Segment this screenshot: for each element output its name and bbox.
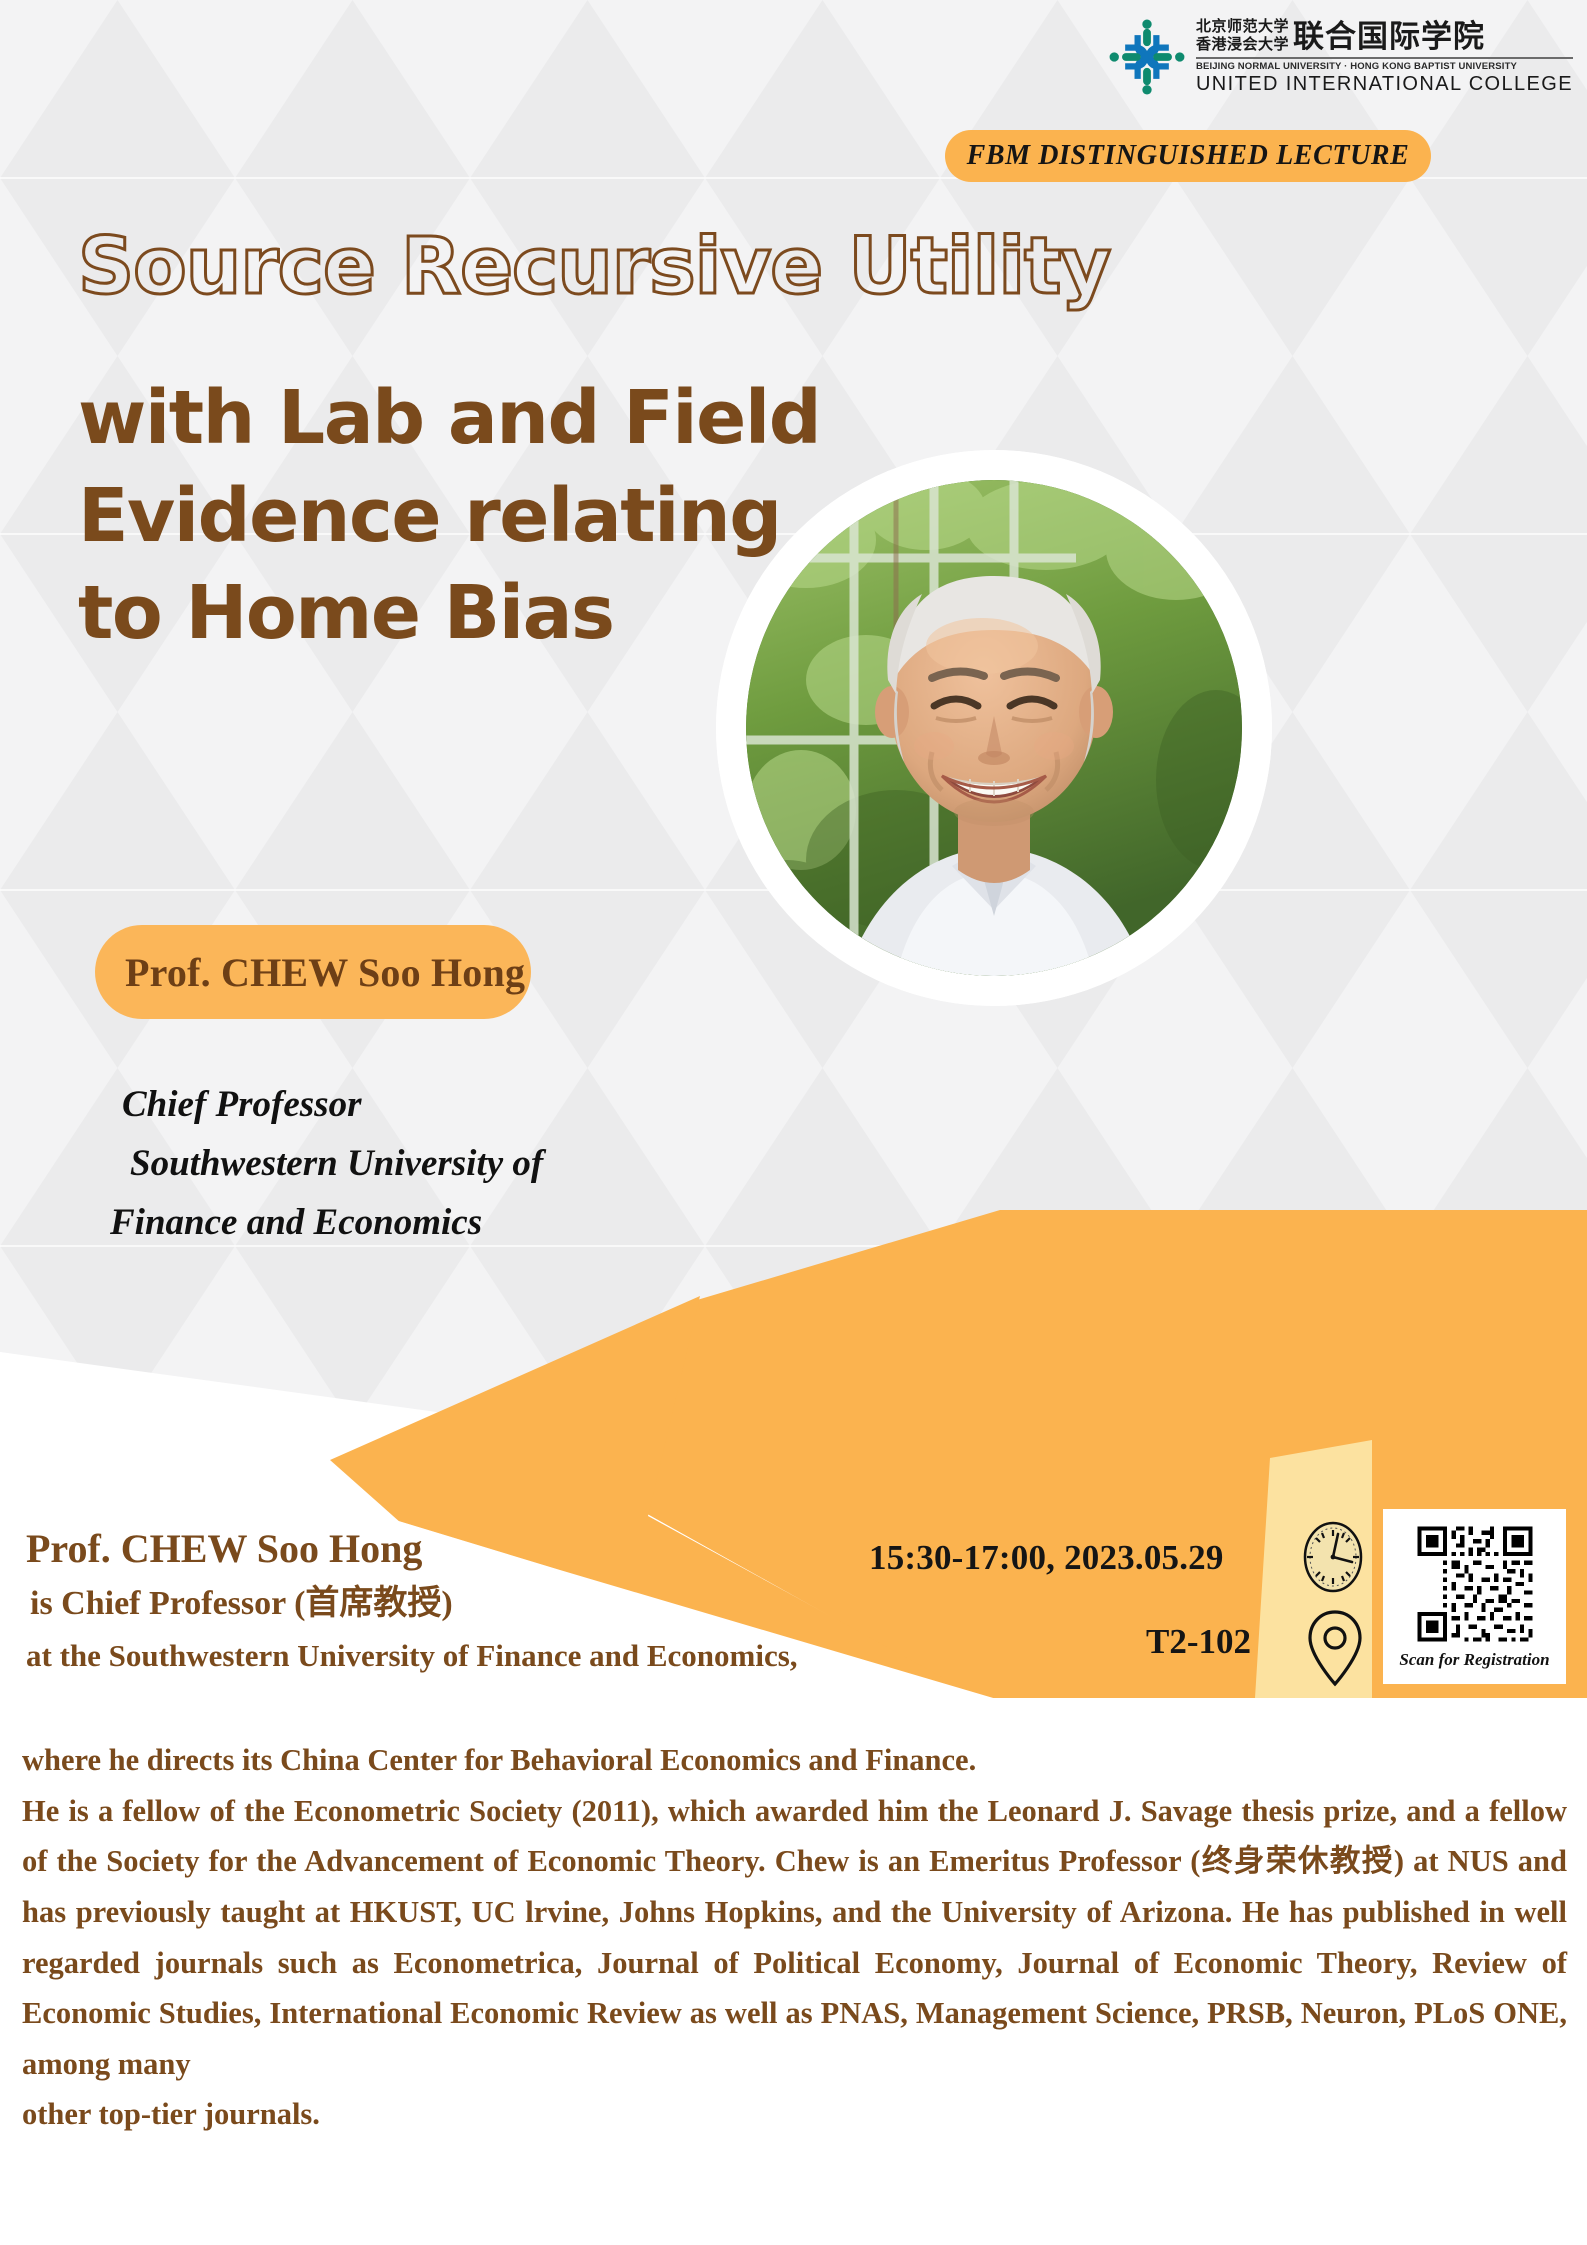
logo-divider — [1196, 57, 1573, 59]
bio-heading: Prof. CHEW Soo Hong is Chief Professor (… — [26, 1528, 798, 1672]
logo-cn-line2: 香港浸会大学 — [1196, 36, 1289, 54]
logo-cn-line1: 北京师范大学 — [1196, 18, 1289, 36]
qr-caption: Scan for Registration — [1399, 1650, 1549, 1670]
logo-cn-main: 联合国际学院 — [1293, 22, 1485, 53]
qr-code-icon[interactable] — [1407, 1522, 1543, 1646]
affiliation-line-1: Chief Professor — [110, 1075, 543, 1134]
speaker-name-pill: Prof. CHEW Soo Hong — [95, 925, 531, 1019]
bio-head-line-3: at the Southwestern University of Financ… — [26, 1640, 798, 1673]
lecture-series-badge: FBM DISTINGUISHED LECTURE — [945, 130, 1431, 182]
location-pin-icon — [1306, 1608, 1364, 1688]
title-line-1: with Lab and Field — [78, 370, 820, 468]
title-line-3: to Home Bias — [78, 565, 820, 663]
bio-paragraph-line-1: where he directs its China Center for Be… — [22, 1735, 1567, 1786]
lecture-room: T2-102 — [1146, 1622, 1251, 1662]
lecture-time: 15:30-17:00, 2023.05.29 — [869, 1538, 1224, 1578]
bio-paragraph-text: He is a fellow of the Econometric Societ… — [22, 1794, 1567, 2081]
title-line-2: Evidence relating — [78, 468, 820, 566]
affiliation-line-3: Finance and Economics — [110, 1193, 543, 1252]
logo-en-subtitle: BEIJING NORMAL UNIVERSITY · HONG KONG BA… — [1196, 61, 1573, 72]
bio-head-line-1: Prof. CHEW Soo Hong — [26, 1528, 798, 1570]
portrait-ring — [716, 450, 1272, 1006]
badge-label: FBM DISTINGUISHED LECTURE — [967, 140, 1410, 172]
speaker-affiliation: Chief Professor Southwestern University … — [110, 1075, 543, 1253]
bio-paragraph: where he directs its China Center for Be… — [22, 1735, 1567, 2140]
logo-en-title: UNITED INTERNATIONAL COLLEGE — [1196, 73, 1573, 96]
affiliation-line-2: Southwestern University of — [110, 1134, 543, 1193]
clock-icon — [1302, 1520, 1364, 1594]
title-solid-lines: with Lab and Field Evidence relating to … — [78, 370, 820, 663]
poster-root: 北京师范大学 香港浸会大学 联合国际学院 BEIJING NORMAL UNIV… — [0, 0, 1587, 2245]
bio-head-line-2: is Chief Professor (首席教授) — [26, 1586, 798, 1622]
uic-logo-icon — [1108, 18, 1186, 96]
title-outline-line: Source Recursive Utility — [78, 228, 1110, 306]
university-logo: 北京师范大学 香港浸会大学 联合国际学院 BEIJING NORMAL UNIV… — [1108, 18, 1573, 96]
speaker-photo — [746, 480, 1242, 976]
registration-qr-card[interactable]: Scan for Registration — [1383, 1509, 1566, 1684]
speaker-name: Prof. CHEW Soo Hong — [125, 949, 525, 996]
bio-paragraph-tail: other top-tier journals. — [22, 2089, 1567, 2140]
logo-wordmark: 北京师范大学 香港浸会大学 联合国际学院 BEIJING NORMAL UNIV… — [1196, 18, 1573, 96]
